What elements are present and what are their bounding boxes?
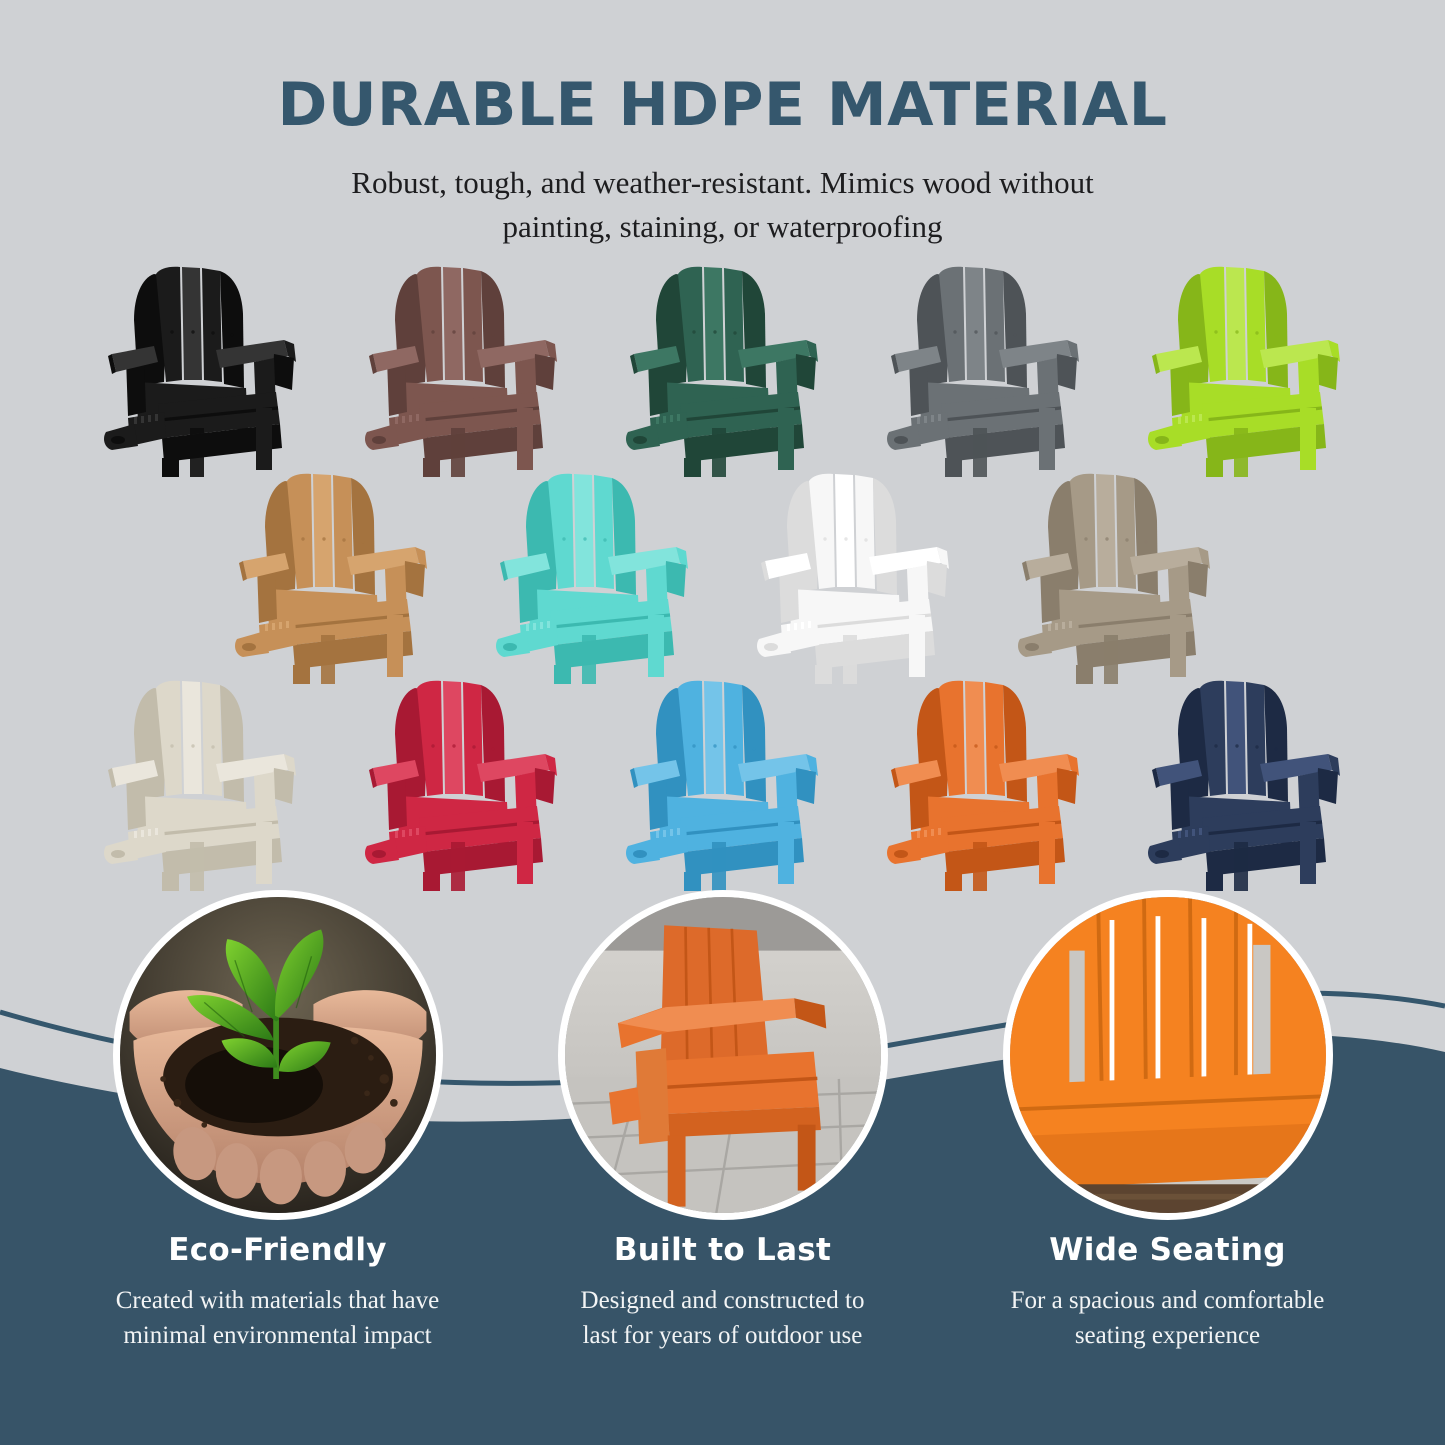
feature-description: Created with materials that have minimal… <box>63 1284 493 1353</box>
feature-description: For a spacious and comfortable seating e… <box>953 1284 1383 1353</box>
chair-gray[interactable] <box>881 262 1086 477</box>
chair-row-1 <box>0 262 1445 477</box>
patio-chair-illustration <box>565 897 881 1213</box>
feature-text-row: Eco-Friendly Created with materials that… <box>0 1232 1445 1353</box>
chair-teak[interactable] <box>229 469 434 684</box>
chair-row-3 <box>0 676 1445 891</box>
chair-navy-blue[interactable] <box>1142 676 1347 891</box>
wide-seat-closeup-photo <box>1003 890 1333 1220</box>
chair-weathered-taupe[interactable] <box>1012 469 1217 684</box>
chair-turquoise[interactable] <box>490 469 695 684</box>
feature-image-row <box>0 890 1445 1220</box>
chair-ivory[interactable] <box>98 676 303 891</box>
feature-title: Eco-Friendly <box>113 1232 443 1268</box>
chair-lime-green[interactable] <box>1142 262 1347 477</box>
chair-orange[interactable] <box>881 676 1086 891</box>
chair-red[interactable] <box>359 676 564 891</box>
feature-description: Designed and constructed to last for yea… <box>508 1284 938 1353</box>
chair-dark-green[interactable] <box>620 262 825 477</box>
chair-white[interactable] <box>751 469 956 684</box>
chair-row-2 <box>0 469 1445 684</box>
feature-title: Built to Last <box>558 1232 888 1268</box>
feature-title: Wide Seating <box>1003 1232 1333 1268</box>
header-block: DURABLE HDPE MATERIAL Robust, tough, and… <box>0 0 1445 249</box>
feature-2: Built to Last Designed and constructed t… <box>558 1232 888 1353</box>
subtitle-line-2: painting, staining, or waterproofing <box>0 205 1445 249</box>
page-title: DURABLE HDPE MATERIAL <box>0 74 1445 137</box>
page-subtitle: Robust, tough, and weather-resistant. Mi… <box>0 161 1445 249</box>
feature-1: Eco-Friendly Created with materials that… <box>113 1232 443 1353</box>
chair-brown[interactable] <box>359 262 564 477</box>
wide-seat-illustration <box>1010 897 1326 1213</box>
feature-3: Wide Seating For a spacious and comforta… <box>1003 1232 1333 1353</box>
chair-black[interactable] <box>98 262 303 477</box>
chair-color-grid <box>0 262 1445 891</box>
orange-chair-on-patio-photo <box>558 890 888 1220</box>
chair-light-blue[interactable] <box>620 676 825 891</box>
seedling-illustration <box>120 897 436 1213</box>
hands-holding-seedling-photo <box>113 890 443 1220</box>
subtitle-line-1: Robust, tough, and weather-resistant. Mi… <box>0 161 1445 205</box>
